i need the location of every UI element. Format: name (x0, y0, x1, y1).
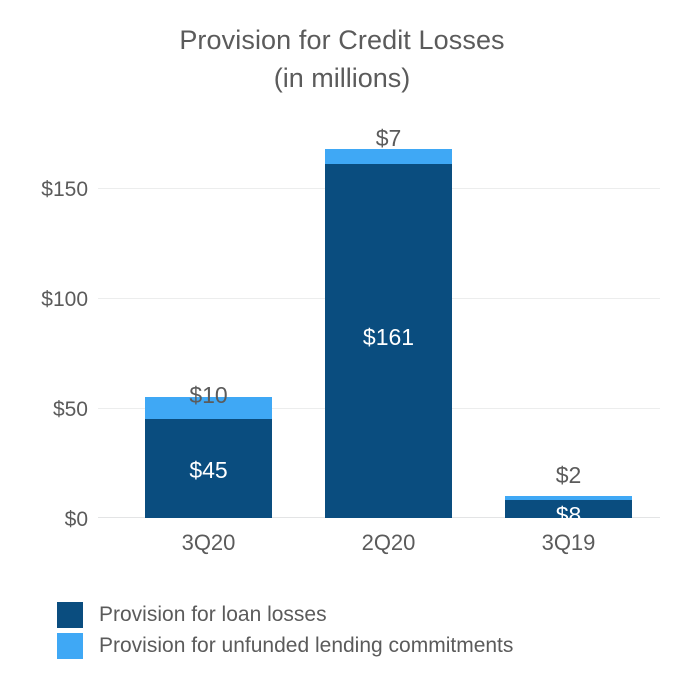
chart-legend: Provision for loan losses Provision for … (57, 601, 513, 663)
bar-label-unfunded-3Q20: $10 (145, 384, 272, 407)
chart-title: Provision for Credit Losses (0, 22, 684, 58)
bar-segment-unfunded-2Q20[interactable]: $7 (325, 149, 452, 164)
legend-swatch-icon-loan-losses (57, 602, 83, 628)
bar-label-loan-losses-3Q19: $8 (505, 504, 632, 527)
legend-item-unfunded-commitments[interactable]: Provision for unfunded lending commitmen… (57, 632, 513, 660)
y-axis-tick-100: $100 (0, 289, 88, 310)
bar-segment-loan-losses-3Q19[interactable]: $8 (505, 500, 632, 518)
bar-label-loan-losses-2Q20: $161 (325, 326, 452, 349)
bar-segment-unfunded-3Q20[interactable]: $10 (145, 397, 272, 419)
bar-3Q20[interactable]: $45 $10 (145, 397, 272, 518)
x-axis-tick-3Q19: 3Q19 (505, 530, 632, 556)
legend-label-unfunded-commitments: Provision for unfunded lending commitmen… (99, 633, 513, 659)
bar-label-unfunded-3Q19: $2 (505, 464, 632, 487)
y-axis-tick-50: $50 (0, 399, 88, 420)
bar-segment-unfunded-3Q19[interactable]: $2 (505, 496, 632, 500)
bar-label-loan-losses-3Q20: $45 (145, 459, 272, 482)
x-axis-tick-3Q20: 3Q20 (145, 530, 272, 556)
bar-segment-loan-losses-3Q20[interactable]: $45 (145, 419, 272, 518)
bar-3Q19[interactable]: $8 $2 (505, 496, 632, 518)
bar-2Q20[interactable]: $161 $7 (325, 149, 452, 518)
y-axis-tick-150: $150 (0, 179, 88, 200)
legend-item-loan-losses[interactable]: Provision for loan losses (57, 601, 513, 629)
plot-area: $45 $10 $161 $7 $8 $2 (98, 140, 660, 518)
x-axis-tick-2Q20: 2Q20 (325, 530, 452, 556)
bar-segment-loan-losses-2Q20[interactable]: $161 (325, 164, 452, 518)
y-axis-tick-0: $0 (0, 509, 88, 530)
bar-label-unfunded-2Q20: $7 (325, 127, 452, 150)
chart-subtitle: (in millions) (0, 60, 684, 96)
legend-label-loan-losses: Provision for loan losses (99, 602, 327, 628)
legend-swatch-icon-unfunded-commitments (57, 633, 83, 659)
